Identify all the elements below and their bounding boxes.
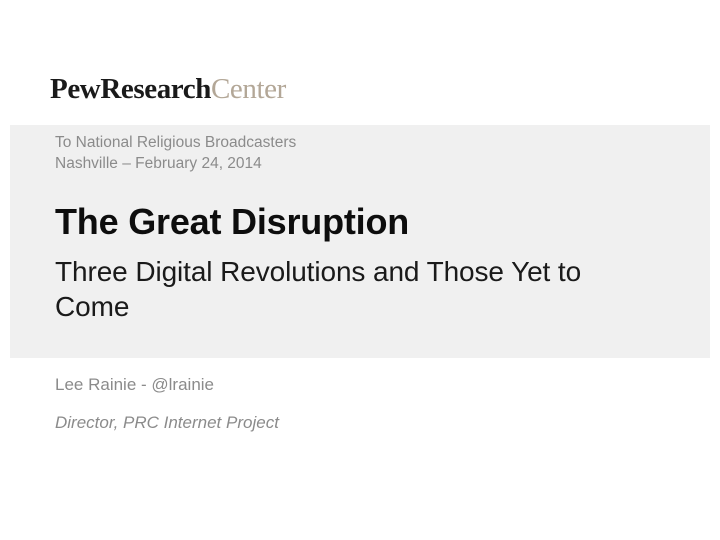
presentation-slide: PewResearchCenter To National Religious … <box>0 0 720 540</box>
event-kicker: To National Religious Broadcasters Nashv… <box>55 132 675 174</box>
pew-research-center-logo: PewResearchCenter <box>50 74 286 104</box>
audience-line: To National Religious Broadcasters <box>55 132 675 153</box>
page-title: The Great Disruption <box>55 201 695 243</box>
title-panel: To National Religious Broadcasters Nashv… <box>10 125 710 358</box>
presenter-role: Director, PRC Internet Project <box>55 412 655 434</box>
venue-date-line: Nashville – February 24, 2014 <box>55 153 675 174</box>
logo-secondary-text: Center <box>211 73 286 105</box>
page-subtitle: Three Digital Revolutions and Those Yet … <box>55 254 655 324</box>
presenter-name: Lee Rainie - @lrainie <box>55 374 655 396</box>
byline: Lee Rainie - @lrainie Director, PRC Inte… <box>55 374 655 434</box>
logo-primary-text: PewResearch <box>50 73 211 105</box>
